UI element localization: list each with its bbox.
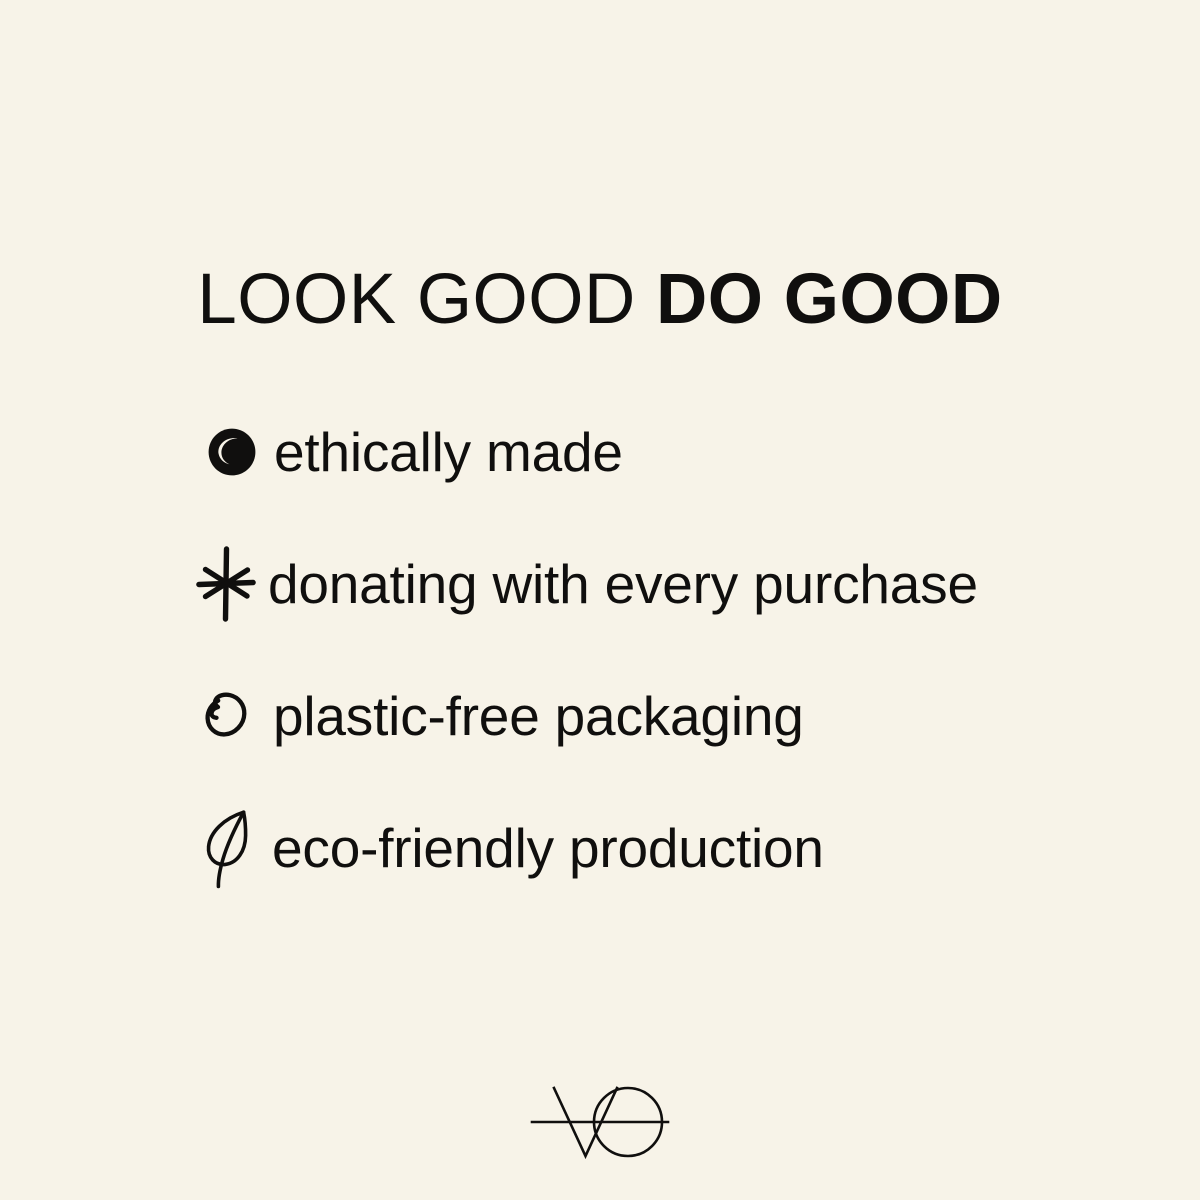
list-item-label: ethically made — [268, 425, 623, 480]
list-item-label: plastic-free packaging — [265, 689, 804, 744]
page-title: LOOK GOOD DO GOOD — [0, 264, 1200, 335]
filled-circle-crescent-icon — [196, 404, 268, 500]
list-item: plastic-free packaging — [196, 668, 1116, 764]
headline-light-part: LOOK GOOD — [197, 260, 656, 339]
headline-container: LOOK GOOD DO GOOD — [0, 216, 1200, 382]
leaf-icon — [196, 800, 264, 896]
headline-bold-part: DO GOOD — [656, 260, 1003, 339]
list-item-label: donating with every purchase — [258, 557, 978, 612]
feature-list: ethically made donat — [196, 404, 1116, 896]
poster-canvas: LOOK GOOD DO GOOD ethically made — [0, 0, 1200, 1200]
open-circle-hook-icon — [196, 668, 265, 764]
six-point-star-icon — [196, 536, 258, 632]
list-item: ethically made — [196, 404, 1116, 500]
list-item: donating with every purchase — [196, 536, 1116, 632]
vo-monogram-icon — [524, 1082, 676, 1164]
brand-logo — [0, 1082, 1200, 1164]
list-item: eco-friendly production — [196, 800, 1116, 896]
list-item-label: eco-friendly production — [264, 821, 824, 876]
